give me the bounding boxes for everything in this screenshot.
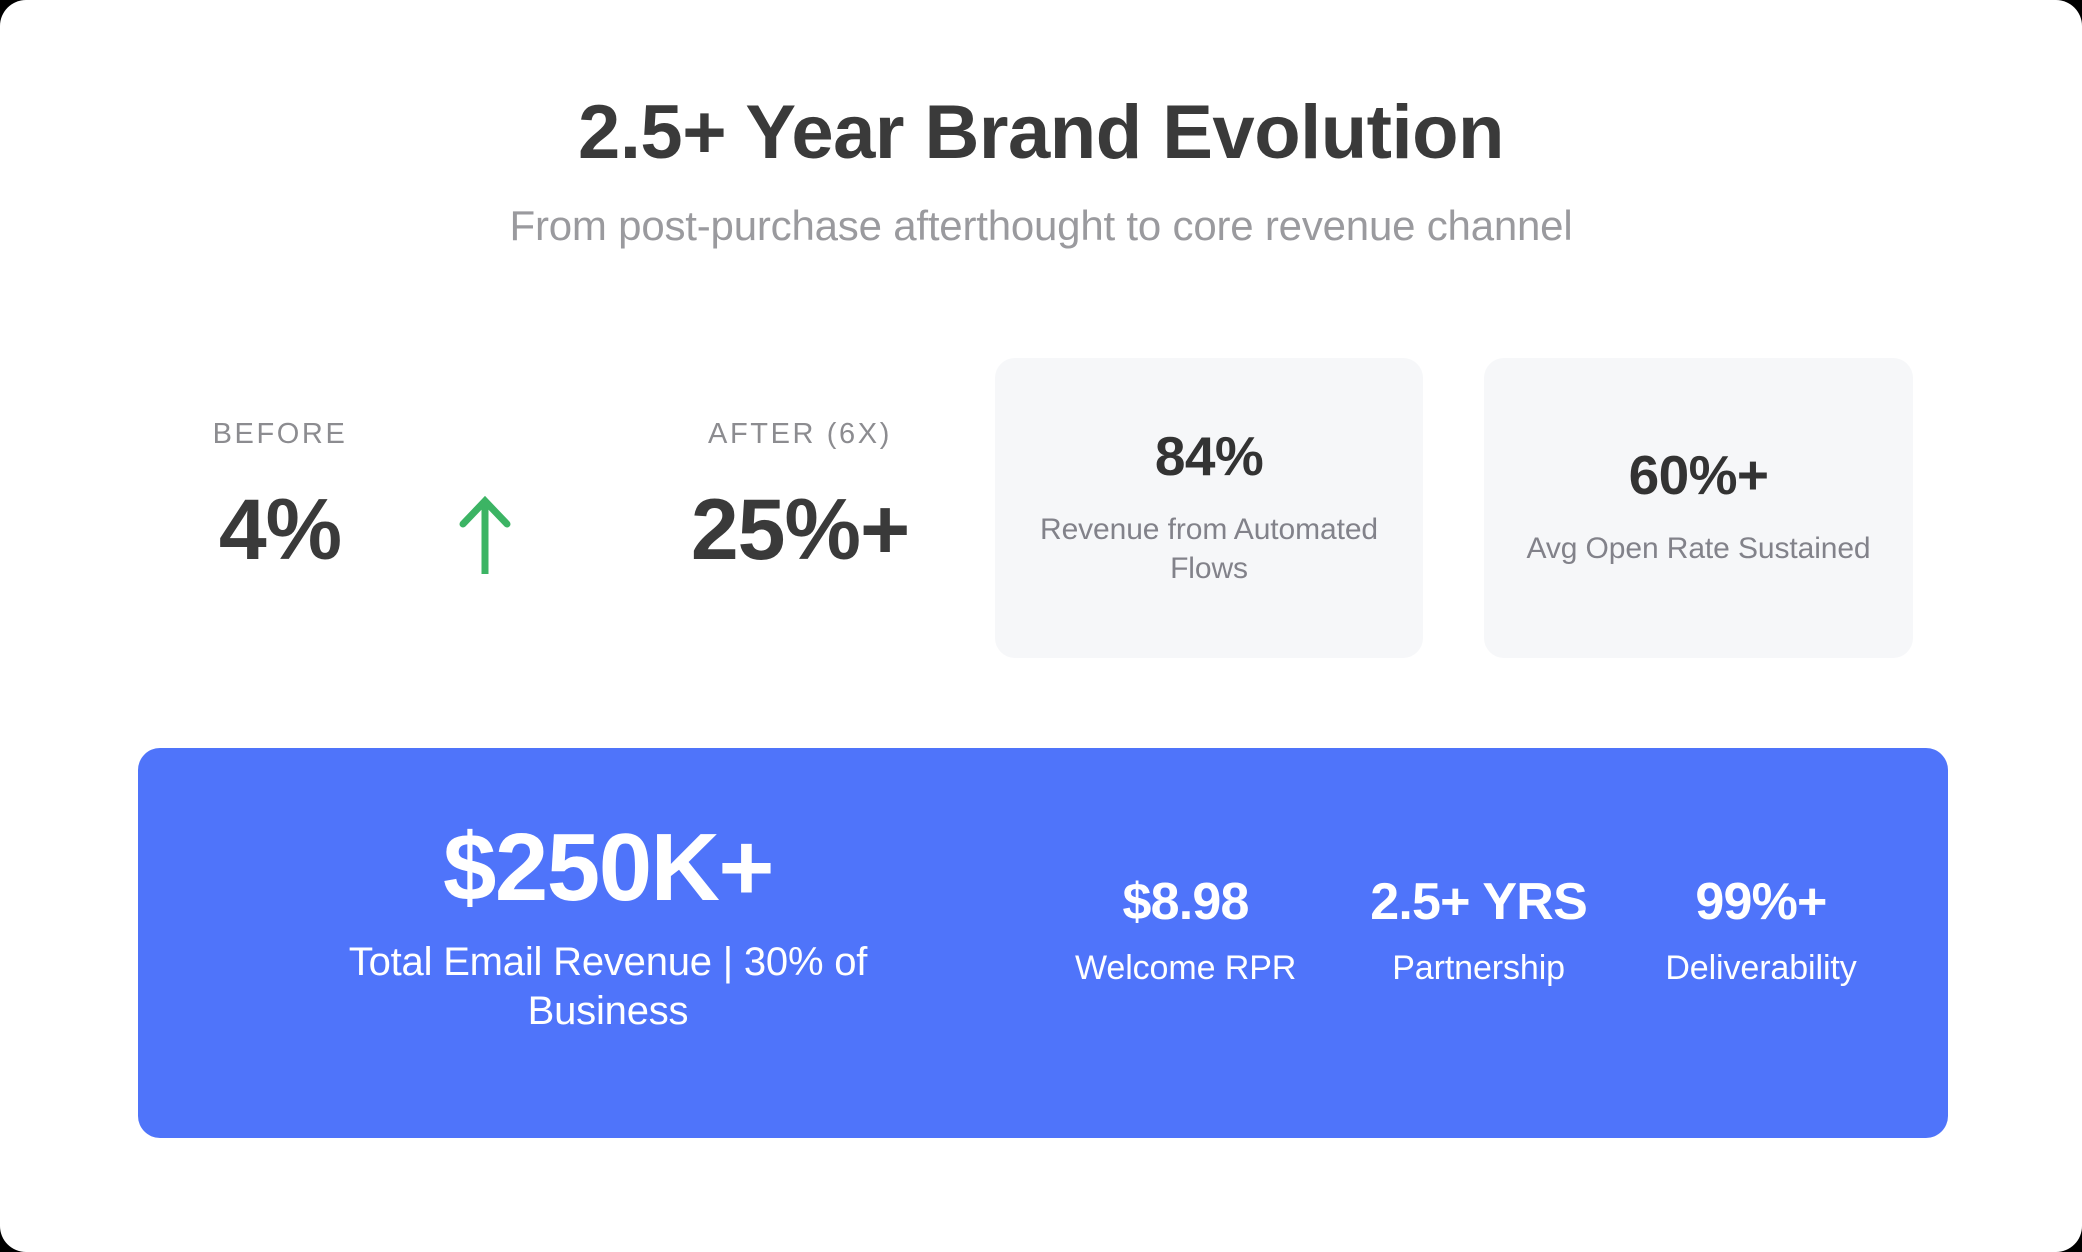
after-stat: AFTER (6X) 25%+ (610, 420, 990, 573)
banner-stat-label: Deliverability (1661, 950, 1861, 987)
arrow-up-icon (440, 488, 530, 578)
before-value: 4% (140, 487, 420, 573)
header: 2.5+ Year Brand Evolution From post-purc… (0, 0, 2082, 250)
stat-card-value: 84% (1155, 429, 1263, 484)
before-after-comparison: BEFORE 4% AFTER (6X) 25%+ (140, 420, 930, 660)
banner-stat-label: Partnership (1370, 950, 1587, 987)
before-label: BEFORE (140, 420, 420, 449)
banner-stat-value: $8.98 (1075, 876, 1296, 928)
stat-card-value: 60%+ (1629, 448, 1769, 503)
banner-primary-stat: $250K+ Total Email Revenue | 30% of Busi… (288, 820, 928, 1036)
banner-stat-value: 2.5+ YRS (1370, 876, 1587, 928)
stat-card-label: Revenue from Automated Flows (1021, 510, 1397, 588)
banner-primary-value: $250K+ (288, 820, 928, 916)
banner-stat-value: 99%+ (1661, 876, 1861, 928)
banner-stat: $8.98 Welcome RPR (1075, 876, 1296, 987)
stat-card: 60%+ Avg Open Rate Sustained (1484, 358, 1913, 658)
after-value: 25%+ (610, 487, 990, 573)
banner-stat-group: $8.98 Welcome RPR 2.5+ YRS Partnership 9… (1038, 876, 1898, 987)
stat-card-label: Avg Open Rate Sustained (1526, 529, 1870, 568)
banner-primary-label: Total Email Revenue | 30% of Business (288, 938, 928, 1036)
page-subtitle: From post-purchase afterthought to core … (0, 202, 2082, 250)
stat-card: 84% Revenue from Automated Flows (995, 358, 1423, 658)
banner-stat: 99%+ Deliverability (1661, 876, 1861, 987)
banner-stat: 2.5+ YRS Partnership (1370, 876, 1587, 987)
after-label: AFTER (6X) (610, 420, 990, 449)
page-title: 2.5+ Year Brand Evolution (0, 92, 2082, 174)
summary-banner: $250K+ Total Email Revenue | 30% of Busi… (138, 748, 1948, 1138)
before-stat: BEFORE 4% (140, 420, 420, 573)
banner-stat-label: Welcome RPR (1075, 950, 1296, 987)
infographic-card: 2.5+ Year Brand Evolution From post-purc… (0, 0, 2082, 1252)
